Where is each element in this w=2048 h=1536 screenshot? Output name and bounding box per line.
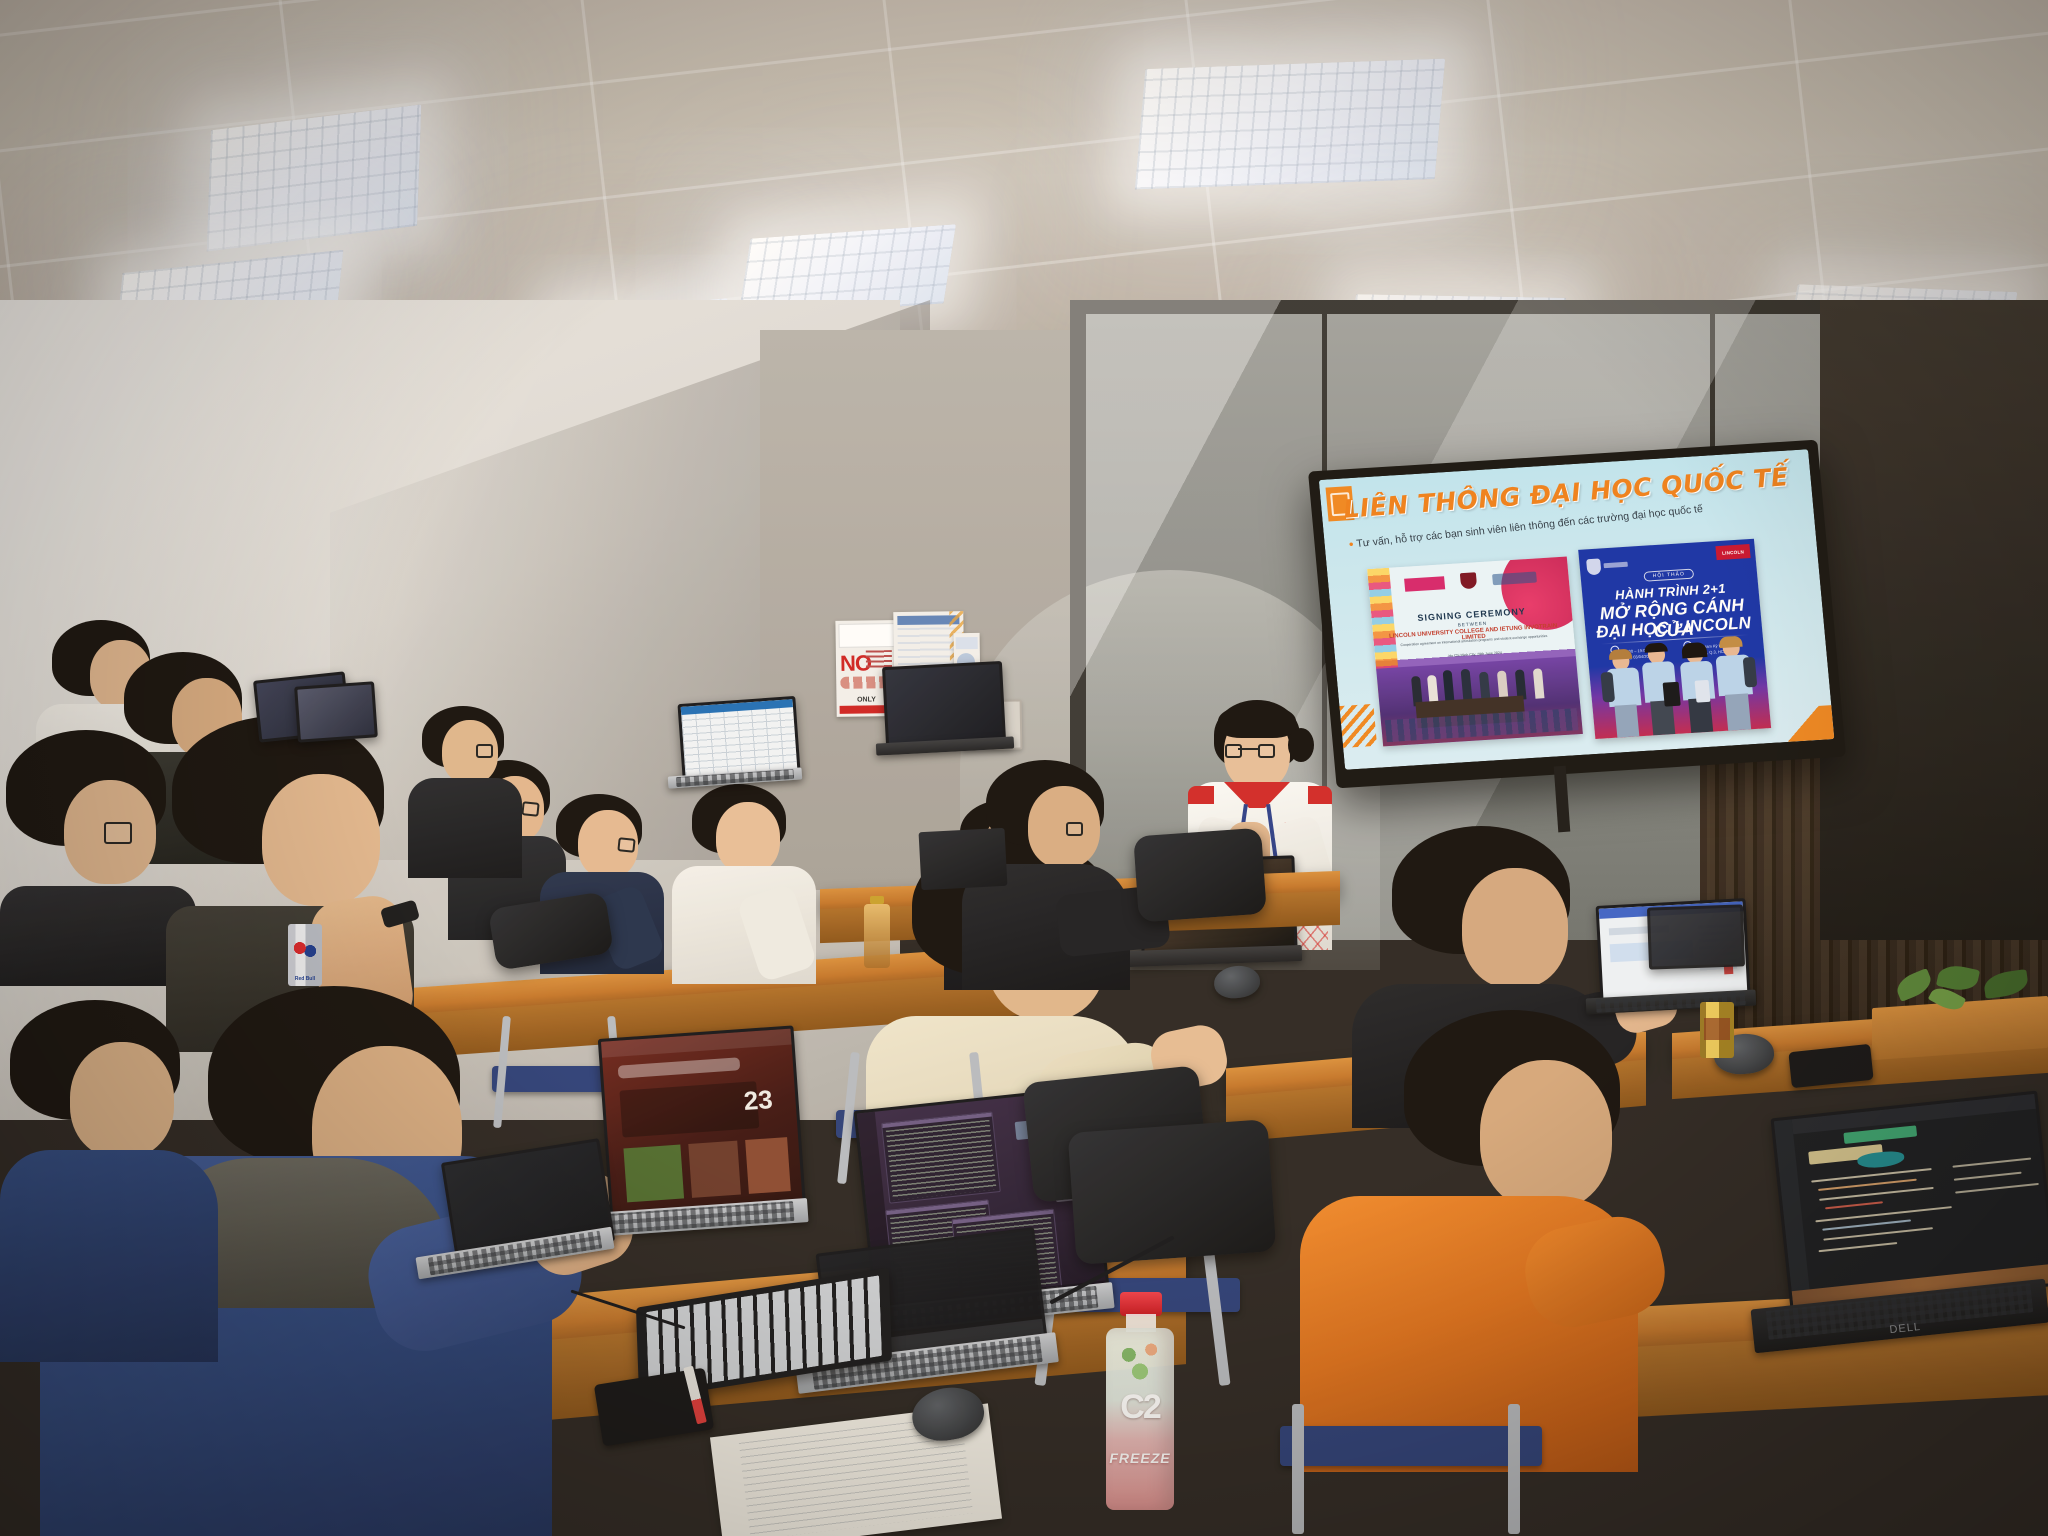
red-bull-label: Red Bull <box>288 976 322 982</box>
energy-can-gold[interactable] <box>1700 1002 1734 1058</box>
laptop-dell-code[interactable] <box>1770 1091 2048 1314</box>
ceiling-light-panel <box>1135 59 1445 190</box>
glasses-icon <box>104 822 132 844</box>
signing-ceremony-card: SIGNING CEREMONY BETWEEN LINCOLN UNIVERS… <box>1367 557 1583 747</box>
bullet-icon: • <box>1348 536 1354 551</box>
student-orange-shirt <box>1300 1010 1640 1470</box>
shoulder-bag[interactable] <box>1133 828 1267 923</box>
bottle-cap <box>1120 1292 1162 1316</box>
ceremony-stage-photo <box>1376 656 1583 746</box>
tea-bottle-left[interactable] <box>864 896 890 968</box>
red-bull-can[interactable]: Red Bull <box>288 924 322 986</box>
laptop-back-left-2[interactable] <box>294 681 378 742</box>
glasses-icon <box>1258 744 1275 758</box>
bottle-leaf-art <box>1112 1334 1168 1386</box>
glasses-icon <box>617 837 635 853</box>
laptop-dark-red-page[interactable]: 23 <box>598 1025 806 1224</box>
hair-bun <box>1288 728 1314 762</box>
poster-student <box>1604 650 1646 738</box>
presentation-screen[interactable]: LIÊN THÔNG ĐẠI HỌC QUỐC TẾ •Tư vấn, hỗ t… <box>1308 440 1846 789</box>
classroom-photo: NO ONLY BOTTLED WATER LIÊN THÔNG ĐẠI HỌC… <box>0 0 2048 1536</box>
dark-room-背景 <box>1820 300 2048 940</box>
lincoln-logo-icon <box>1404 576 1445 591</box>
partner-crest-icon <box>1460 572 1477 589</box>
glasses-icon <box>1225 744 1242 758</box>
wifi-info-card <box>838 623 894 648</box>
university-seal-icon <box>1586 558 1601 575</box>
laptop-back-right[interactable] <box>882 661 1006 747</box>
desktop-tower <box>919 828 1008 890</box>
student-blue-left-edge <box>0 1000 220 1360</box>
student-back-3 <box>672 784 818 984</box>
lincoln-seminar-poster: LINCOLN HỘI THẢO HÀNH TRÌNH 2+1 MỞ RỘNG … <box>1578 539 1771 739</box>
c2-variant-label: FREEZE <box>1104 1450 1176 1466</box>
laptop-spreadsheet[interactable] <box>677 696 800 780</box>
c2-bottle[interactable]: C2 FREEZE <box>1104 1292 1176 1510</box>
chair[interactable] <box>1270 1404 1550 1536</box>
c2-brand-label: C2 <box>1104 1388 1176 1427</box>
lincoln-brand-badge: LINCOLN <box>1715 544 1750 560</box>
backpack[interactable] <box>1068 1119 1277 1265</box>
dell-logo: DELL <box>1889 1321 1922 1336</box>
glasses-icon <box>521 801 539 817</box>
glasses-icon <box>1066 822 1083 836</box>
terminal-window[interactable] <box>881 1112 1001 1204</box>
student-back-5 <box>408 706 524 878</box>
slide: LIÊN THÔNG ĐẠI HỌC QUỐC TẾ •Tư vấn, hỗ t… <box>1319 449 1835 770</box>
partner-logo-icon <box>1492 571 1537 585</box>
laptop-right-extra[interactable] <box>1647 904 1745 969</box>
seminar-badge: HỘI THẢO <box>1643 569 1694 582</box>
glasses-icon <box>476 744 493 758</box>
laptop-screen-number: 23 <box>743 1084 774 1117</box>
